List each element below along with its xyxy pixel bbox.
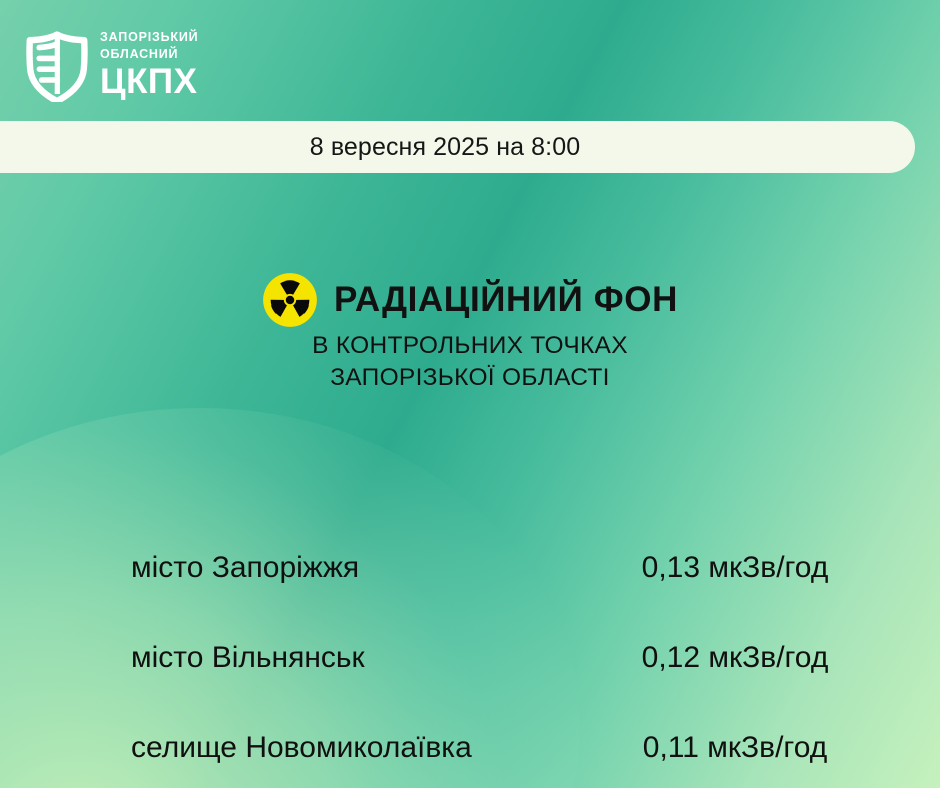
brand-line-2: ОБЛАСНИЙ: [100, 47, 178, 61]
shield-logo-icon: [26, 28, 88, 102]
radiation-hazard-icon: [262, 272, 318, 328]
brand-logo: ЗАПОРІЗЬКИЙ ОБЛАСНИЙ ЦКПХ: [26, 28, 940, 102]
reading-value: 0,11 мкЗв/год: [609, 731, 861, 765]
readings-list: місто Запоріжжя 0,13 мкЗв/год місто Віль…: [131, 551, 861, 788]
brand-text-block: ЗАПОРІЗЬКИЙ ОБЛАСНИЙ ЦКПХ: [100, 29, 198, 101]
date-badge: 8 вересня 2025 на 8:00: [0, 121, 915, 173]
reading-place: місто Запоріжжя: [131, 551, 609, 585]
brand-line-1: ЗАПОРІЗЬКИЙ: [100, 30, 198, 44]
title-row: РАДІАЦІЙНИЙ ФОН: [0, 272, 940, 328]
reading-value: 0,12 мкЗв/год: [609, 641, 861, 675]
title-subtitle-line-1: В КОНТРОЛЬНИХ ТОЧКАХ: [0, 330, 940, 362]
reading-row: селище Новомиколаївка 0,11 мкЗв/год: [131, 731, 861, 788]
reading-row: місто Запоріжжя 0,13 мкЗв/год: [131, 551, 861, 641]
reading-place: селище Новомиколаївка: [131, 731, 609, 765]
reading-place: місто Вільнянськ: [131, 641, 609, 675]
reading-value: 0,13 мкЗв/год: [609, 551, 861, 585]
radiation-background-poster: ЗАПОРІЗЬКИЙ ОБЛАСНИЙ ЦКПХ 8 вересня 2025…: [0, 0, 940, 788]
reading-row: місто Вільнянськ 0,12 мкЗв/год: [131, 641, 861, 731]
title-block: РАДІАЦІЙНИЙ ФОН В КОНТРОЛЬНИХ ТОЧКАХ ЗАП…: [0, 272, 940, 395]
brand-abbreviation: ЦКПХ: [100, 64, 198, 101]
title-subtitle: В КОНТРОЛЬНИХ ТОЧКАХ ЗАПОРІЗЬКОЇ ОБЛАСТІ: [0, 330, 940, 395]
title-subtitle-line-2: ЗАПОРІЗЬКОЇ ОБЛАСТІ: [0, 362, 940, 394]
page-title: РАДІАЦІЙНИЙ ФОН: [334, 280, 678, 320]
